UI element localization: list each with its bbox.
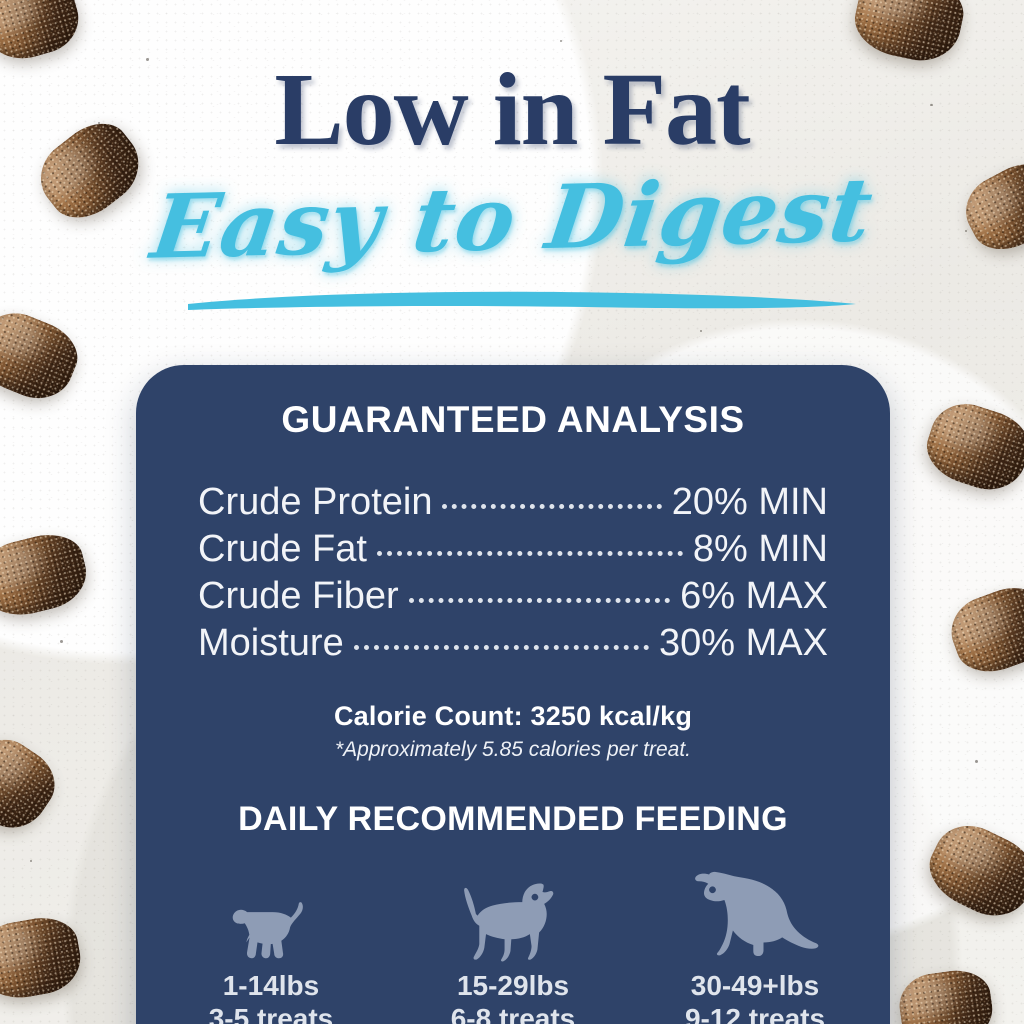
leader-dots [377, 551, 683, 556]
feeding-label: 1-14lbs 3-5 treats [209, 969, 334, 1024]
leader-dots [409, 598, 671, 603]
sitting-dog-icon [687, 859, 823, 963]
paper-speck [975, 760, 978, 763]
feeding-label: 15-29lbs 6-8 treats [451, 969, 576, 1024]
weight-range: 30-49+lbs [691, 970, 819, 1001]
feeding-column-small: 1-14lbs 3-5 treats [181, 893, 361, 1024]
guaranteed-analysis-list: Crude Protein 20% MIN Crude Fat 8% MIN C… [160, 479, 866, 667]
analysis-title: GUARANTEED ANALYSIS [136, 399, 890, 441]
feeding-label: 30-49+lbs 9-12 treats [685, 969, 825, 1024]
analysis-row: Crude Fat 8% MIN [160, 526, 866, 573]
nutrition-card: GUARANTEED ANALYSIS Crude Protein 20% MI… [136, 365, 890, 1024]
analysis-value: 20% MIN [672, 479, 828, 526]
weight-range: 15-29lbs [457, 970, 569, 1001]
analysis-label: Crude Fat [198, 526, 367, 573]
analysis-label: Crude Fiber [198, 573, 399, 620]
paper-speck [30, 860, 32, 862]
puppy-dog-icon [223, 893, 319, 963]
standing-dog-icon [454, 875, 572, 963]
analysis-label: Crude Protein [198, 479, 432, 526]
feeding-column-medium: 15-29lbs 6-8 treats [423, 875, 603, 1024]
infographic-canvas: Low in Fat Easy to Digest GUARANTEED ANA… [0, 0, 1024, 1024]
treat-count: 6-8 treats [451, 1003, 576, 1024]
analysis-row: Crude Fiber 6% MAX [160, 573, 866, 620]
treat-count: 9-12 treats [685, 1003, 825, 1024]
paper-speck [560, 40, 562, 42]
feeding-column-large: 30-49+lbs 9-12 treats [665, 859, 845, 1024]
analysis-row: Crude Protein 20% MIN [160, 479, 866, 526]
calorie-note: *Approximately 5.85 calories per treat. [136, 738, 890, 762]
treat-count: 3-5 treats [209, 1003, 334, 1024]
analysis-value: 6% MAX [680, 573, 828, 620]
calorie-count: Calorie Count: 3250 kcal/kg [136, 701, 890, 732]
paper-speck [60, 640, 63, 643]
feeding-title: DAILY RECOMMENDED FEEDING [136, 800, 890, 839]
feeding-guide: 1-14lbs 3-5 treats 15-29lbs 6-8 treats [136, 859, 890, 1024]
subtitle-script-wrap: Easy to Digest [0, 172, 1024, 264]
subtitle-script: Easy to Digest [146, 163, 878, 273]
weight-range: 1-14lbs [223, 970, 320, 1001]
leader-dots [442, 504, 661, 509]
page-title: Low in Fat [0, 58, 1024, 162]
leader-dots [354, 645, 649, 650]
analysis-label: Moisture [198, 620, 344, 667]
analysis-value: 30% MAX [659, 620, 828, 667]
analysis-row: Moisture 30% MAX [160, 620, 866, 667]
paper-speck [700, 330, 702, 332]
analysis-value: 8% MIN [693, 526, 828, 573]
